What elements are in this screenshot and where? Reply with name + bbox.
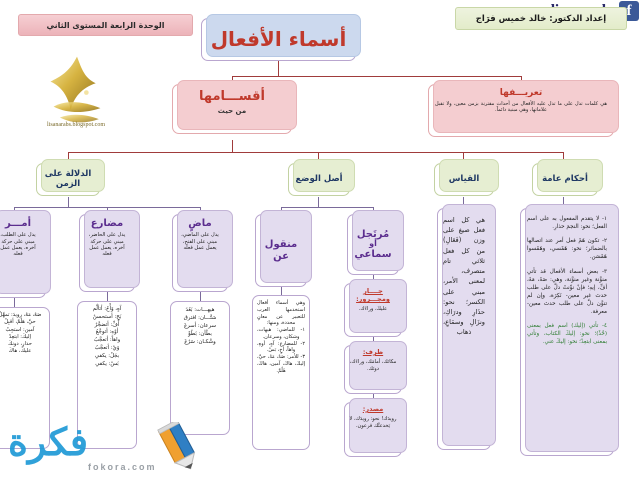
node-madi-title: ماضٍ (175, 218, 225, 229)
definition-card: تعريـــفها هي كلمات تدل على ما تدل عليه … (428, 84, 614, 137)
connector (318, 197, 319, 207)
node-amr[interactable]: أمـــر يدل على الطلب، مبني على حركة آخره… (0, 214, 46, 298)
watermark-text: فكرة (8, 420, 88, 465)
sub-masdar-heading: مصدر: (347, 406, 399, 413)
node-manqul-title2: عن (273, 251, 289, 262)
branch-ahkam[interactable]: أحكام عامة (532, 163, 598, 196)
connector (281, 207, 373, 208)
detail-amr-body: صَهْ، مَهْ، رويدَ: تمهَّلْ حيَّ، هَلُمَّ… (0, 311, 47, 357)
branch-qiyas[interactable]: القياس (434, 163, 494, 196)
sub-masdar-body: رويدَك! نحو: رويدَك، لا يَخدعنَّك فرعون. (347, 415, 399, 430)
node-mudari-title: مضارع (82, 218, 132, 229)
node-murtajal-title3: سماعي (354, 249, 391, 260)
sections-card: أقســـامها من حيث (172, 84, 292, 134)
connector (14, 298, 15, 307)
sub-masdar: مصدر: رويدَك! نحو: رويدَك، لا يَخدعنَّك … (344, 402, 402, 457)
definition-heading: تعريـــفها (433, 88, 609, 98)
node-manqul[interactable]: منقول عن (255, 214, 307, 287)
watermark-subtext: fokora.com (88, 462, 157, 472)
connector (232, 140, 233, 152)
detail-madi: هيهـــات: بَعُدَ شتَّـــان: افترق سرعان:… (170, 301, 230, 435)
unit-banner: الوحدة الرابعة المستوى الثاني (18, 14, 193, 36)
logo-caption: lisanarabs.blogspot.com (30, 122, 122, 132)
pencil-icon (148, 422, 210, 474)
detail-madi-body: هيهـــات: بَعُدَ شتَّـــان: افترق سرعان:… (173, 305, 227, 348)
connector (278, 60, 279, 76)
page-title: أسماء الأفعال (211, 28, 347, 50)
sub-zarf-body: مكانَك، أمامَك، وراءَك، دونَك. (347, 358, 399, 373)
connector (107, 292, 108, 301)
ahkam-item-3: ٣- بعض أسماء الأفعال قد تأتي منوَّنة وغي… (525, 267, 609, 318)
main-title-card: أسماء الأفعال (201, 18, 356, 61)
branch-zaman-label: الدلالة على الزمن (40, 170, 96, 189)
sub-zarf-heading: ظرف: (347, 349, 399, 356)
sub-zarf: ظرف: مكانَك، أمامَك، وراءَك، دونَك. (344, 345, 402, 394)
definition-body: هي كلمات تدل على ما تدل عليه الأفعال من … (433, 100, 609, 115)
node-murtajal[interactable]: مُرتَجل أو سماعي (347, 214, 399, 275)
connector (200, 292, 201, 301)
connector (232, 76, 522, 77)
node-madi[interactable]: ماضٍ يدل على الماضي، مبني على الفتح، يعم… (172, 214, 228, 292)
node-murtajal-title2: أو (369, 240, 377, 249)
branch-qiyas-label: القياس (449, 175, 480, 185)
detail-manqul-body: وهي أسماء أفعال استخدمها العرب للتعبير ع… (255, 299, 307, 375)
detail-qiyas: هي كل اسم فعل صيغ على وزن (فَعَالِ) من ك… (437, 208, 491, 450)
sections-heading: أقســـامها (173, 90, 291, 105)
detail-manqul: وهي أسماء أفعال استخدمها العرب للتعبير ع… (252, 295, 310, 450)
node-amr-title: أمـــر (0, 218, 43, 229)
node-manqul-title: منقول (265, 239, 297, 250)
branch-asl[interactable]: أصل الوضع (288, 163, 350, 196)
author-credit: إعداد الدكتور: خالد خميس فرَاج (455, 7, 627, 30)
detail-mudari-body: آهٍ، وَأْحْ: أتألَّم بَخٍ: أستحسنُ أفٍّ:… (80, 305, 134, 370)
sub-jar-heading: جــــار ومجـــرور: (347, 287, 399, 303)
ahkam-item-1: ١- لا يتقدم المفعول به على اسم الفعل؛ نح… (525, 214, 609, 232)
sections-subheading: من حيث (173, 108, 291, 116)
node-mudari-note: يدل على الحاضر، مبني على حركة آخره، يعمل… (82, 231, 132, 258)
node-amr-note: يدل على الطلب، مبني على حركة آخره، يعمل … (0, 231, 43, 258)
detail-ahkam: ١- لا يتقدم المفعول به على اسم الفعل؛ نح… (520, 208, 614, 456)
branch-asl-label: أصل الوضع (295, 175, 342, 185)
calligraphy-logo (38, 52, 116, 130)
connector (68, 152, 563, 153)
branch-zaman[interactable]: الدلالة على الزمن (36, 163, 100, 196)
sub-jar: جــــار ومجـــرور: عليكَ، وراءَك. (344, 283, 402, 337)
ahkam-item-4: ٤- تأتي (إليك) اسم فعل بمعنى (خُذْ)؛ نحو… (525, 321, 609, 347)
branch-ahkam-label: أحكام عامة (542, 175, 588, 185)
node-madi-note: يدل على الماضي، مبني على الفتح، يعمل عمل… (175, 231, 225, 252)
sub-jar-body: عليكَ، وراءَك. (347, 305, 399, 313)
connector (281, 287, 282, 295)
detail-qiyas-body: هي كل اسم فعل صيغ على وزن (فَعَالِ) من ك… (441, 214, 487, 339)
connector (68, 197, 69, 207)
ahkam-item-2: ٢- تكون هَمْ فعل أمر عند اتصالها بالضمائ… (525, 236, 609, 262)
node-mudari[interactable]: مضارع يدل على الحاضر، مبني على حركة آخره… (79, 214, 135, 292)
